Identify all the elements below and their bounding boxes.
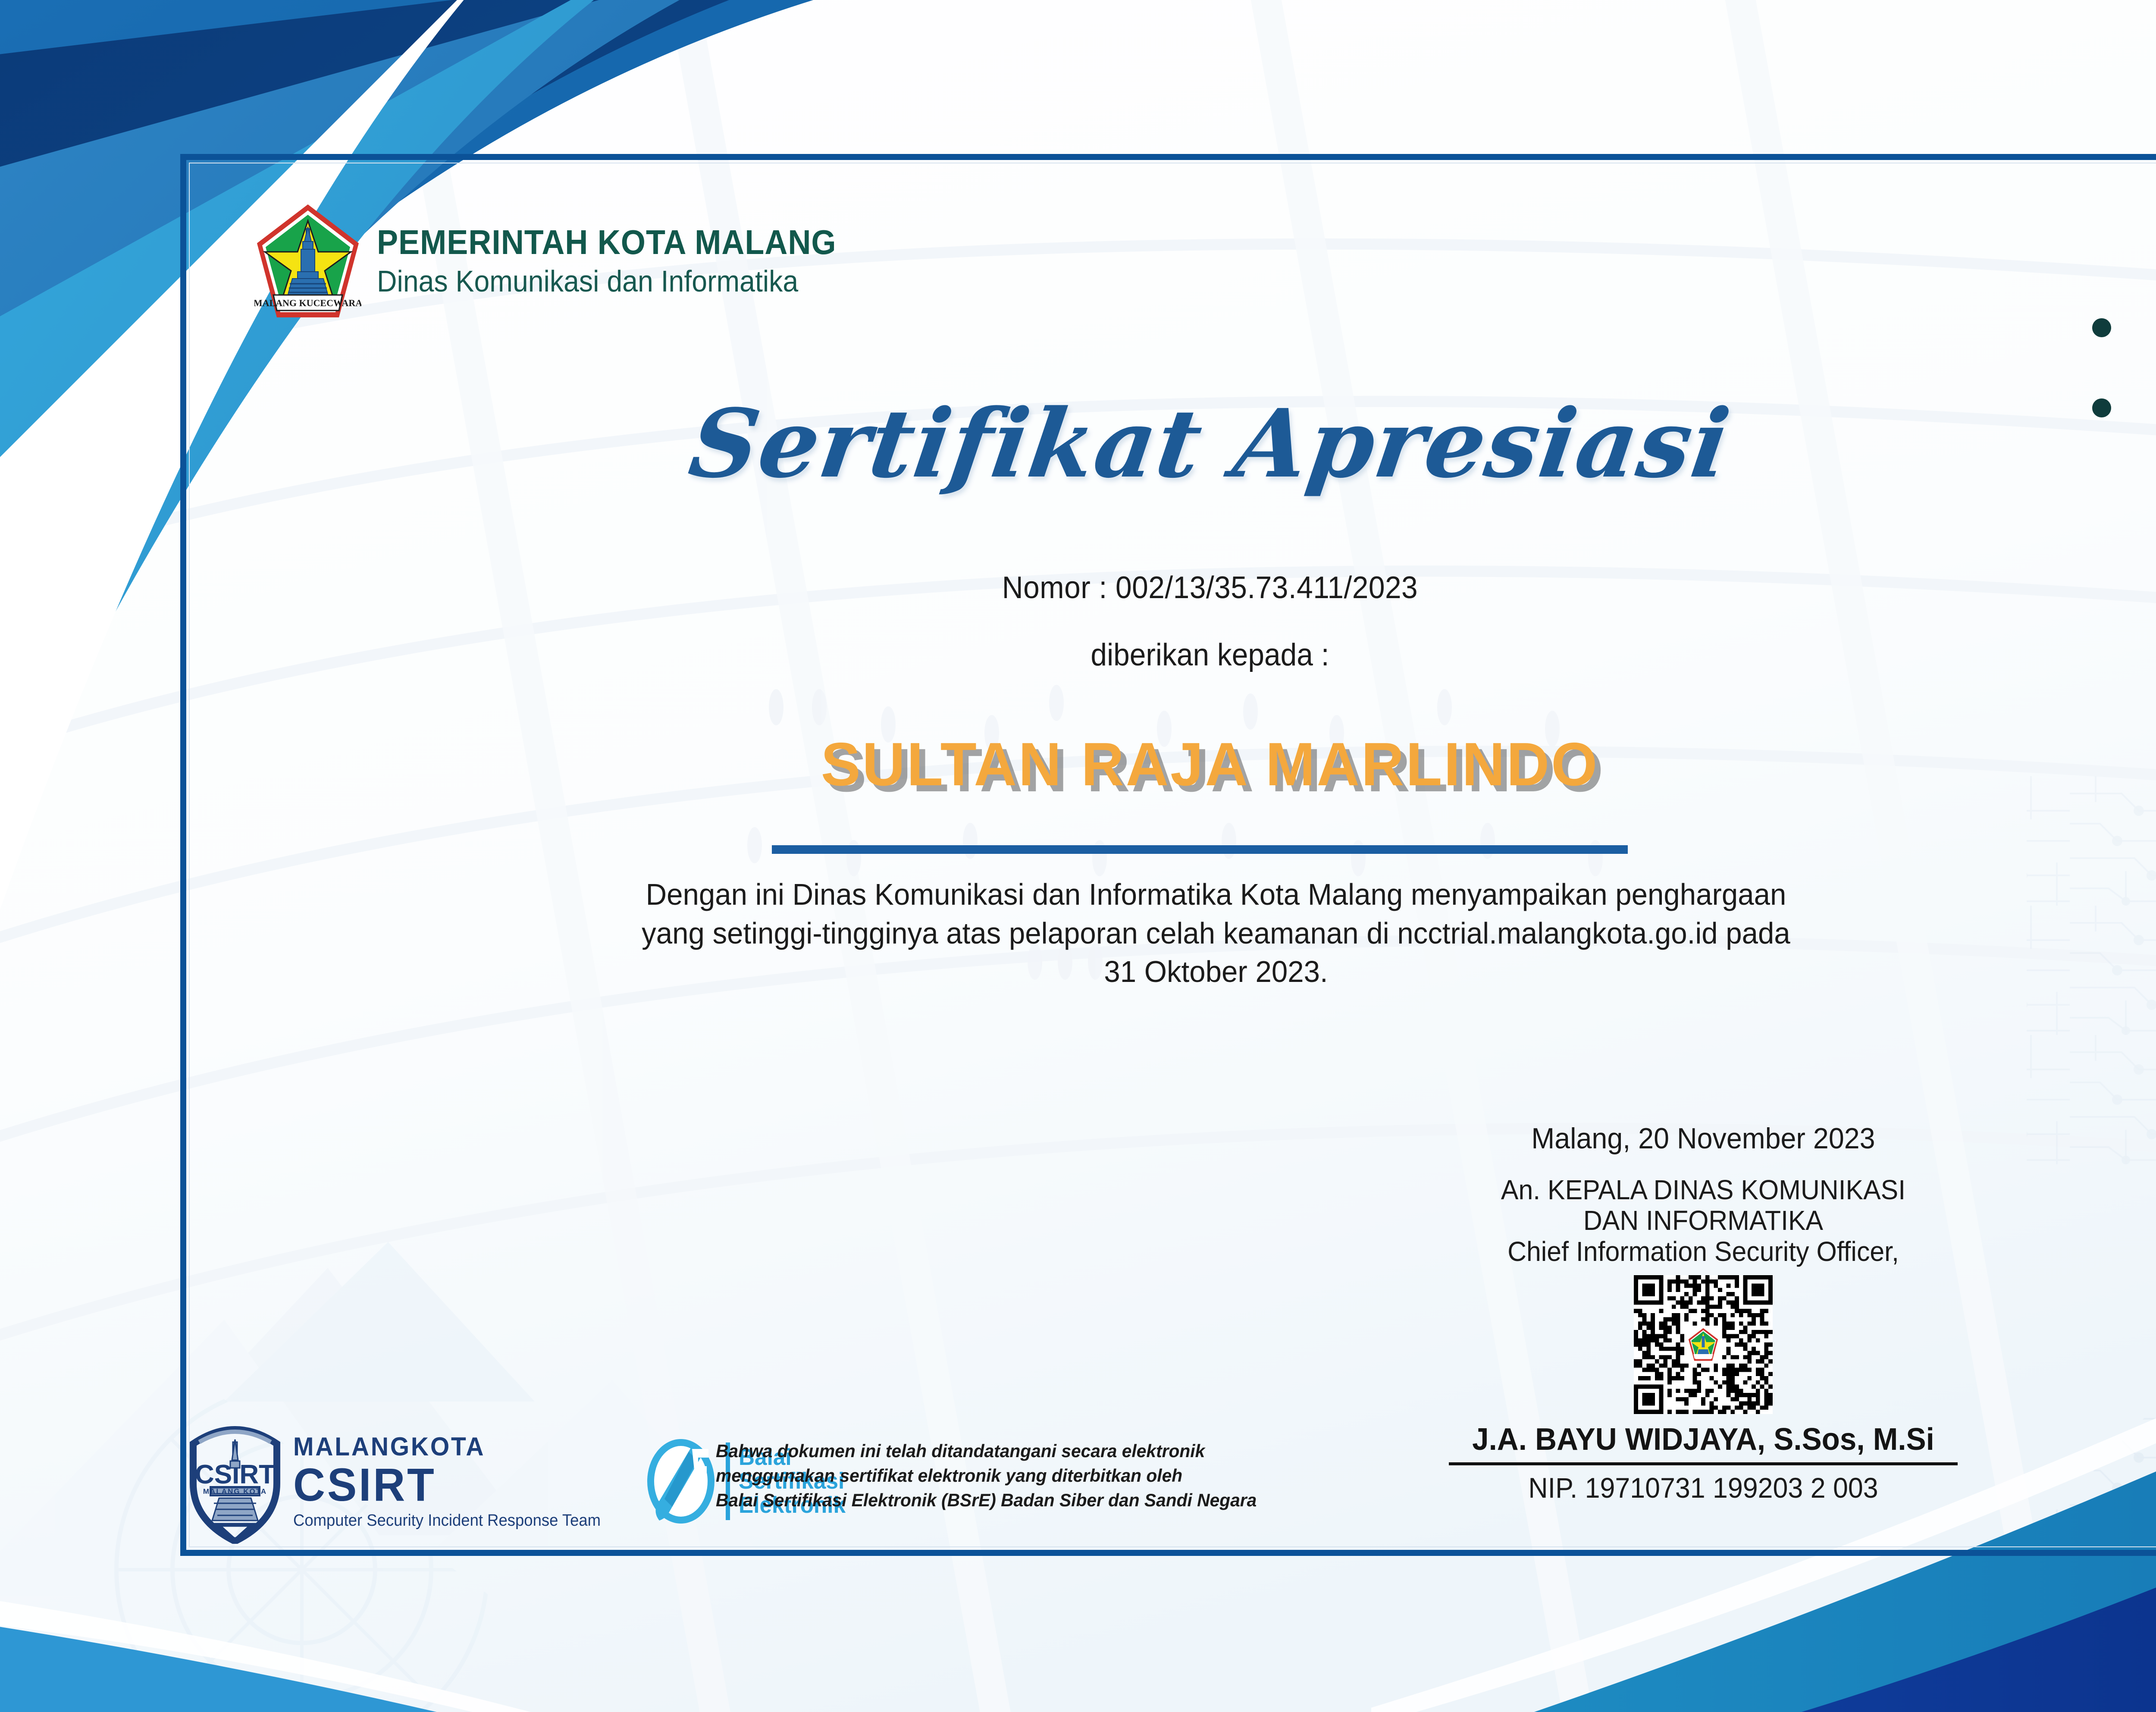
qr-code-icon[interactable] (1634, 1275, 1773, 1414)
certificate-header: MALANG KUCECWARA PEMERINTAH KOTA MALANG … (254, 202, 876, 321)
signer-name: J.A. BAYU WIDJAYA, S.Sos, M.Si (1447, 1422, 1960, 1457)
signature-role-line-1: An. KEPALA DINAS KOMUNIKASI (1501, 1174, 1905, 1205)
svg-text:MALANG KUCECWARA: MALANG KUCECWARA (254, 298, 361, 308)
bsre-mark-icon (644, 1436, 718, 1527)
signer-underline (1449, 1462, 1958, 1465)
recipient-name: SULTAN RAJA MARLINDO (36, 734, 2156, 795)
disclaimer-line-2: menggunakan sertifikat elektronik yang d… (716, 1463, 1281, 1488)
disclaimer-line-1: Bahwa dokumen ini telah ditandatangani s… (716, 1439, 1281, 1463)
csirt-shield-icon: CSIRT MALANG KOTA (185, 1419, 285, 1544)
disclaimer-line-3: Balai Sertifikasi Elektronik (BSrE) Bada… (716, 1488, 1281, 1512)
malang-city-crest-icon (1688, 1327, 1719, 1362)
svg-text:MALANG KOTA: MALANG KOTA (203, 1487, 267, 1496)
csirt-line-3: Computer Security Incident Response Team (293, 1512, 601, 1529)
awarded-to-label: diberikan kepada : (72, 637, 2156, 673)
gov-department: Dinas Komunikasi dan Informatika (377, 264, 837, 298)
recipient-underline (772, 845, 1628, 854)
page-title: Sertifikat Apresiasi (0, 397, 2156, 491)
signature-place-date: Malang, 20 November 2023 (1449, 1121, 1957, 1157)
certificate-number: Nomor : 002/13/35.73.411/2023 (72, 570, 2156, 605)
certificate-body: Dengan ini Dinas Komunikasi dan Informat… (487, 875, 1944, 991)
gov-name: PEMERINTAH KOTA MALANG (377, 225, 837, 260)
signer-nip: NIP. 19710731 199203 2 003 (1449, 1471, 1957, 1504)
signature-role: An. KEPALA DINAS KOMUNIKASI DAN INFORMAT… (1449, 1175, 1957, 1267)
dot-1 (2092, 318, 2111, 337)
electronic-signature-disclaimer: Bahwa dokumen ini telah ditandatangani s… (716, 1439, 1281, 1512)
body-line-3: 31 Oktober 2023. (487, 953, 1944, 991)
csirt-line-2: CSIRT (293, 1461, 598, 1508)
signature-block: Malang, 20 November 2023 An. KEPALA DINA… (1436, 1121, 1971, 1504)
body-line-1: Dengan ini Dinas Komunikasi dan Informat… (487, 875, 1944, 914)
signature-role-line-2: DAN INFORMATIKA (1583, 1205, 1823, 1236)
signature-role-line-3: Chief Information Security Officer, (1449, 1236, 1957, 1267)
body-line-2: yang setinggi-tingginya atas pelaporan c… (487, 914, 1944, 953)
malang-city-crest-icon: MALANG KUCECWARA (254, 202, 361, 321)
csirt-line-1: MALANGKOTA (293, 1434, 598, 1460)
